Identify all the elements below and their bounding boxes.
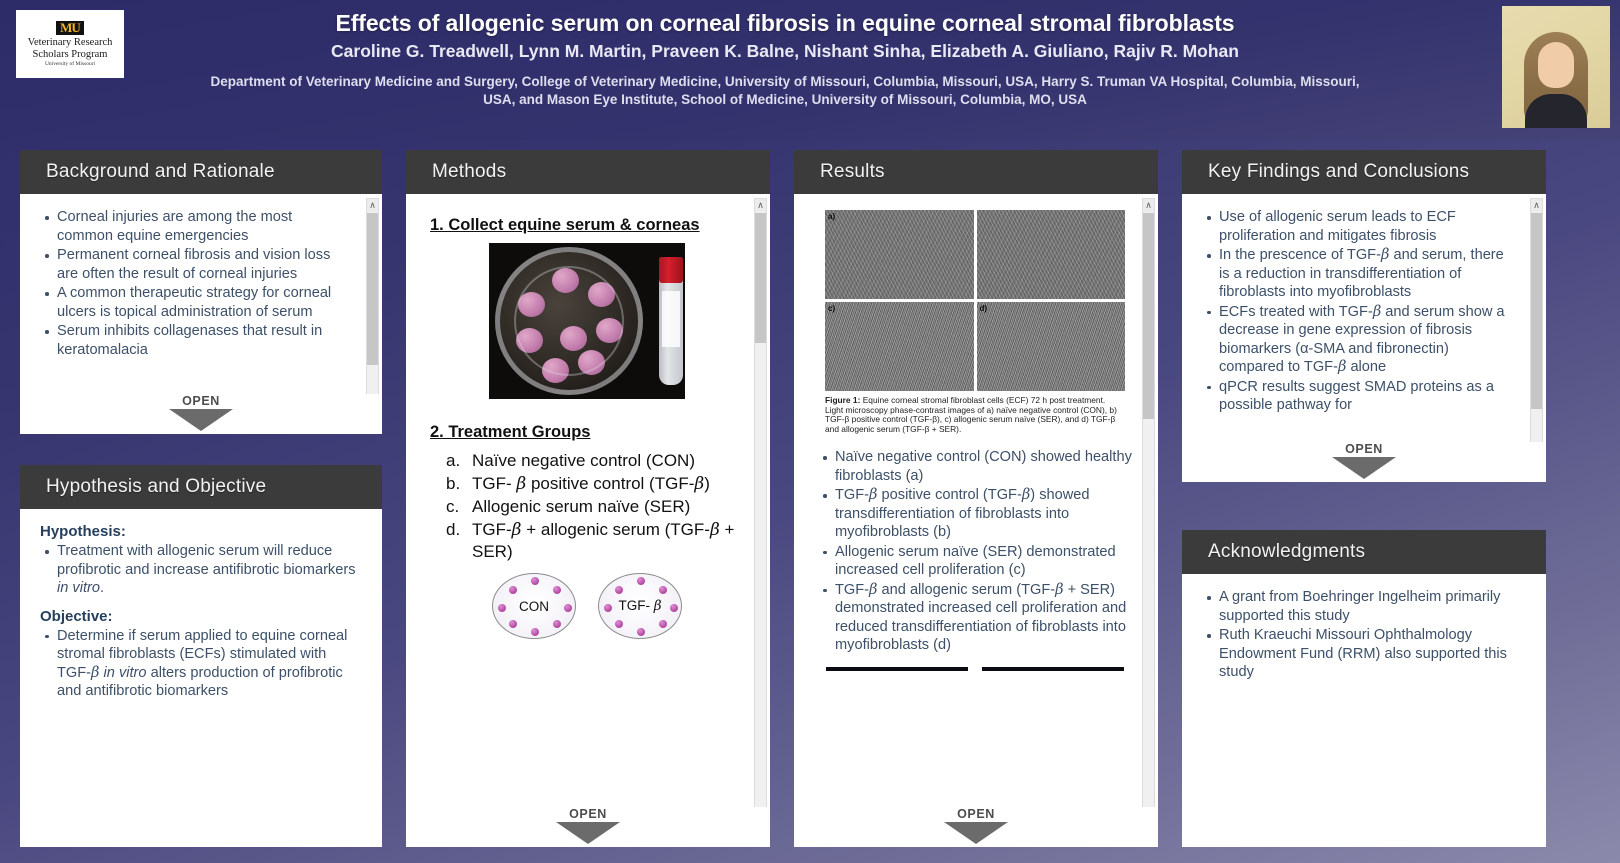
list-item: Allogenic serum naïve (SER) demonstrated…: [818, 543, 1132, 580]
panel-body-background: Corneal injuries are among the most comm…: [20, 194, 382, 434]
open-button-results[interactable]: OPEN: [794, 807, 1158, 847]
scroll-up-icon[interactable]: ∧: [367, 199, 378, 212]
cornea-sample: [542, 358, 569, 383]
scroll-thumb[interactable]: [367, 213, 378, 365]
list-item: Corneal injuries are among the most comm…: [40, 208, 352, 245]
panel-title-background: Background and Rationale: [20, 150, 382, 194]
objective-bullet-list: Determine if serum applied to equine cor…: [40, 627, 364, 701]
cornea-sample: [596, 318, 623, 343]
group-marker: c.: [446, 496, 459, 518]
hypothesis-bullet-list: Treatment with allogenic serum will redu…: [40, 542, 364, 598]
list-item: Serum inhibits collagenases that result …: [40, 322, 352, 359]
panel-body-key-findings: Use of allogenic serum leads to ECF prol…: [1182, 194, 1546, 482]
treatment-groups-list: a.Naïve negative control (CON) b.TGF- β …: [446, 450, 744, 563]
figure-1-image-grid: a) b) c) d): [825, 210, 1125, 391]
panel-label: c): [828, 304, 835, 313]
list-item: TGF-β and allogenic serum (TGF-β + SER) …: [818, 581, 1132, 655]
micrograph-b: b): [977, 210, 1126, 299]
logo-line-3: University of Missouri: [45, 61, 95, 67]
cell-dot: [553, 586, 561, 594]
well-con: CON: [492, 573, 576, 639]
panel-body-results: a) b) c) d) Figure 1: Equine corneal str…: [794, 194, 1158, 847]
list-item: Determine if serum applied to equine cor…: [40, 627, 364, 701]
list-item: Use of allogenic serum leads to ECF prol…: [1202, 208, 1516, 245]
list-item: Naïve negative control (CON) showed heal…: [818, 448, 1132, 485]
open-label: OPEN: [957, 807, 995, 821]
presenter-photo: [1502, 6, 1610, 128]
well-tgfb: TGF- β: [598, 573, 682, 639]
results-bullet-list: Naïve negative control (CON) showed heal…: [818, 448, 1132, 655]
panel-title-methods: Methods: [406, 150, 770, 194]
list-item: Ruth Kraeuchi Missouri Ophthalmology End…: [1202, 626, 1522, 682]
figure-edge-right: [982, 667, 1124, 671]
micrograph-a: a): [825, 210, 974, 299]
open-button-key-findings[interactable]: OPEN: [1182, 442, 1546, 482]
panel-key-findings: Key Findings and Conclusions Use of allo…: [1182, 150, 1546, 488]
list-item: qPCR results suggest SMAD proteins as a …: [1202, 378, 1516, 415]
affiliation-text: Department of Veterinary Medicine and Su…: [140, 73, 1430, 109]
cornea-sample: [516, 328, 543, 353]
logo-line-2: Scholars Program: [33, 49, 108, 61]
cell-dot: [637, 577, 645, 585]
chevron-down-icon: [556, 822, 620, 844]
panel-label: d): [980, 304, 988, 313]
scrollbar-key-findings[interactable]: ∧ ∨: [1530, 198, 1543, 478]
open-label: OPEN: [1345, 442, 1383, 456]
chevron-down-icon: [169, 409, 233, 431]
panel-label: a): [828, 212, 835, 221]
hypothesis-label: Hypothesis:: [40, 523, 364, 540]
petri-dish: [495, 247, 643, 395]
chevron-down-icon: [1332, 457, 1396, 479]
scrollbar-methods[interactable]: ∧ ∨: [754, 198, 767, 843]
cornea-sample: [578, 350, 605, 375]
well-label: TGF- β: [618, 598, 661, 614]
scroll-thumb[interactable]: [755, 213, 766, 343]
panel-background-and-rationale: Background and Rationale Corneal injurie…: [20, 150, 382, 440]
cell-dot: [509, 586, 517, 594]
cell-dot: [637, 628, 645, 636]
panel-title-key-findings: Key Findings and Conclusions: [1182, 150, 1546, 194]
blood-collection-tube: [659, 257, 683, 385]
open-label: OPEN: [182, 394, 220, 408]
cell-dot: [553, 620, 561, 628]
page-title: Effects of allogenic serum on corneal fi…: [140, 8, 1430, 38]
list-item: a.Naïve negative control (CON): [446, 450, 744, 472]
cell-dot: [564, 604, 572, 612]
cell-dot: [615, 586, 623, 594]
cornea-sample: [552, 268, 579, 293]
panel-body-acknowledgments: A grant from Boehringer Ingelheim primar…: [1182, 574, 1546, 847]
tube-label: [662, 291, 680, 347]
panel-hypothesis-and-objective: Hypothesis and Objective Hypothesis: Tre…: [20, 465, 382, 853]
tube-cap: [659, 257, 683, 283]
list-item: b.TGF- β positive control (TGF-β): [446, 473, 744, 495]
open-label: OPEN: [569, 807, 607, 821]
panel-title-hypothesis: Hypothesis and Objective: [20, 465, 382, 509]
cell-dot: [531, 577, 539, 585]
list-item: d.TGF-β + allogenic serum (TGF-β + SER): [446, 519, 744, 563]
scroll-up-icon[interactable]: ∧: [1531, 199, 1542, 212]
author-list: Caroline G. Treadwell, Lynn M. Martin, P…: [140, 39, 1430, 64]
list-item: ECFs treated with TGF-β and serum show a…: [1202, 303, 1516, 377]
cell-dot: [615, 620, 623, 628]
cell-dot: [498, 604, 506, 612]
list-item: c.Allogenic serum naïve (SER): [446, 496, 744, 518]
group-marker: b.: [446, 473, 460, 495]
panel-acknowledgments: Acknowledgments A grant from Boehringer …: [1182, 530, 1546, 853]
poster-header: MU Veterinary Research Scholars Program …: [0, 0, 1620, 140]
cell-dot: [670, 604, 678, 612]
group-marker: a.: [446, 450, 460, 472]
list-item: A common therapeutic strategy for cornea…: [40, 284, 352, 321]
micrograph-c: c): [825, 302, 974, 391]
scroll-thumb[interactable]: [1143, 213, 1154, 419]
serum-corneas-photo: [489, 243, 685, 399]
scrollbar-results[interactable]: ∧ ∨: [1142, 198, 1155, 843]
list-item: In the prescence of TGF-β and serum, the…: [1202, 246, 1516, 302]
figure-caption-label: Figure 1:: [825, 395, 860, 405]
cell-dot: [659, 586, 667, 594]
list-item: Treatment with allogenic serum will redu…: [40, 542, 364, 598]
list-item: TGF-β positive control (TGF-β) showed tr…: [818, 486, 1132, 542]
panel-results: Results a) b) c) d) Figure 1: Equine cor…: [794, 150, 1158, 853]
figure-caption-text: Equine corneal stromal fibroblast cells …: [825, 395, 1117, 434]
poster-columns: Background and Rationale Corneal injurie…: [0, 140, 1620, 863]
cell-dot: [531, 628, 539, 636]
panel-title-acknowledgments: Acknowledgments: [1182, 530, 1546, 574]
background-bullet-list: Corneal injuries are among the most comm…: [40, 208, 352, 359]
panel-title-results: Results: [794, 150, 1158, 194]
photo-body: [1525, 94, 1587, 128]
panel-body-hypothesis: Hypothesis: Treatment with allogenic ser…: [20, 509, 382, 847]
methods-step1-title: 1. Collect equine serum & corneas: [430, 216, 744, 235]
well-label: CON: [519, 599, 549, 614]
scroll-thumb[interactable]: [1531, 213, 1542, 409]
key-findings-bullet-list: Use of allogenic serum leads to ECF prol…: [1202, 208, 1516, 415]
vrsp-logo: MU Veterinary Research Scholars Program …: [16, 10, 124, 78]
mu-logo-mark: MU: [56, 21, 84, 35]
figure-edge-left: [826, 667, 968, 671]
chevron-down-icon: [944, 822, 1008, 844]
next-figure-edges: [818, 667, 1132, 671]
objective-label: Objective:: [40, 608, 364, 625]
logo-line-1: Veterinary Research: [28, 37, 113, 49]
figure-1-caption: Figure 1: Equine corneal stromal fibrobl…: [825, 396, 1125, 434]
open-button-methods[interactable]: OPEN: [406, 807, 770, 847]
panel-body-methods: 1. Collect equine serum & corneas: [406, 194, 770, 847]
group-marker: d.: [446, 519, 460, 541]
photo-face: [1538, 42, 1574, 88]
scroll-up-icon[interactable]: ∧: [755, 199, 766, 212]
list-item: A grant from Boehringer Ingelheim primar…: [1202, 588, 1522, 625]
acknowledgments-bullet-list: A grant from Boehringer Ingelheim primar…: [1202, 588, 1522, 682]
methods-step2-title: 2. Treatment Groups: [430, 423, 744, 442]
title-block: Effects of allogenic serum on corneal fi…: [140, 8, 1430, 109]
open-button-background[interactable]: OPEN: [20, 394, 382, 434]
list-item: Permanent corneal fibrosis and vision lo…: [40, 246, 352, 283]
scroll-up-icon[interactable]: ∧: [1143, 199, 1154, 212]
well-diagrams: CON TGF- β: [430, 573, 744, 639]
cell-dot: [659, 620, 667, 628]
cell-dot: [509, 620, 517, 628]
cell-dot: [604, 604, 612, 612]
panel-methods: Methods 1. Collect equine serum & cornea…: [406, 150, 770, 853]
micrograph-d: d): [977, 302, 1126, 391]
cornea-sample: [518, 292, 545, 317]
cornea-sample: [588, 282, 615, 307]
cornea-sample: [560, 326, 587, 351]
